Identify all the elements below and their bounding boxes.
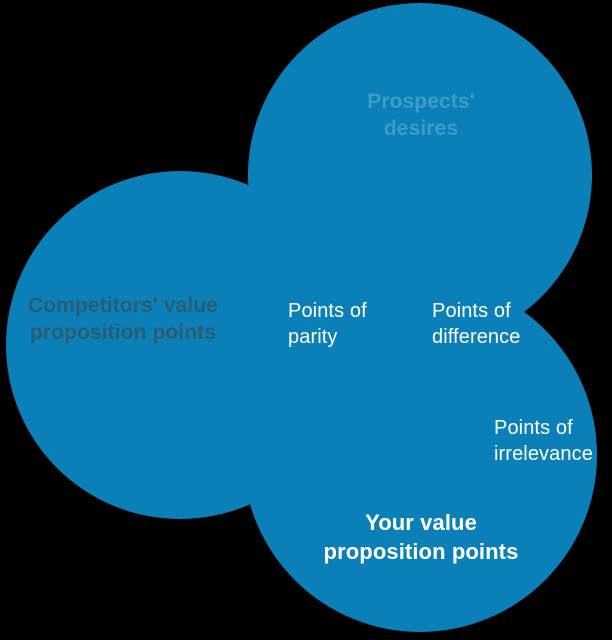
region-label-points-of-irrelevance: Points of irrelevance bbox=[494, 415, 612, 467]
circle-label-your-value-proposition: Your value proposition points bbox=[296, 509, 546, 566]
circle-label-competitors-value-proposition: Competitors' value proposition points bbox=[0, 292, 246, 347]
region-label-points-of-parity: Points of parity bbox=[288, 298, 398, 350]
region-label-points-of-difference: Points of difference bbox=[432, 298, 562, 350]
circle-label-prospects-desires: Prospects' desires bbox=[318, 88, 524, 143]
venn-diagram: Prospects' desires Competitors' value pr… bbox=[0, 0, 612, 640]
